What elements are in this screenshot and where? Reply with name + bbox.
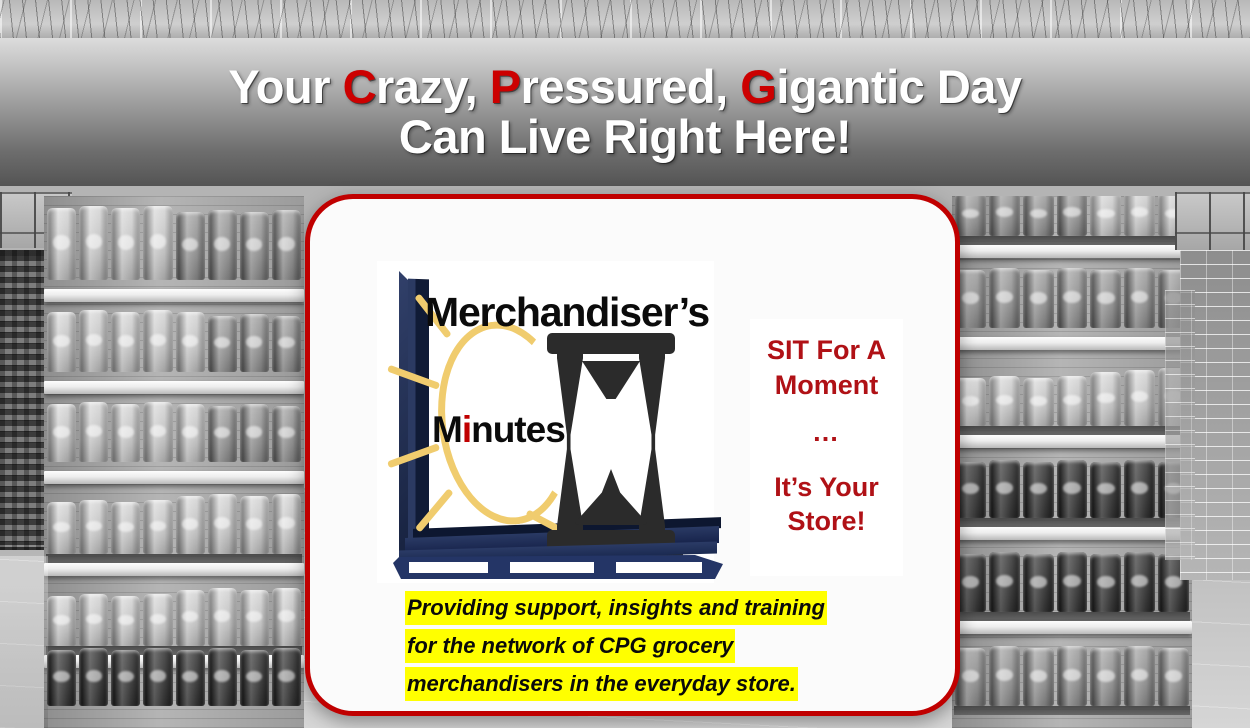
shelf-row xyxy=(952,196,1192,258)
product-group xyxy=(952,646,1192,706)
headline-text-igantic-day: igantic Day xyxy=(776,60,1021,113)
shelf-price-strip xyxy=(954,426,1190,435)
product-group xyxy=(952,460,1192,518)
slogan-line-1: SIT For A xyxy=(767,333,886,368)
headline-text-razy: razy, xyxy=(376,60,490,113)
card-inner: Merchandiser’s Minutes SIT For A Moment … xyxy=(310,199,955,711)
headline-banner: Your Crazy, Pressured, Gigantic Day Can … xyxy=(0,38,1250,186)
shelf-row xyxy=(44,484,304,576)
pallet-slot xyxy=(510,562,594,573)
left-shelving-unit xyxy=(44,196,304,728)
slogan-line-3: It’s Your xyxy=(774,470,879,505)
shelf-row xyxy=(44,668,304,728)
logo-wordmark-merchandisers: Merchandiser’s xyxy=(425,289,709,336)
product-group xyxy=(952,552,1192,612)
shelf-price-strip xyxy=(954,518,1190,527)
shelf-board xyxy=(952,245,1192,258)
hourglass-upper-sand xyxy=(582,361,640,399)
shelf-row xyxy=(44,394,304,484)
headline-text-ressured: ressured, xyxy=(521,60,741,113)
shelf-board xyxy=(952,527,1192,540)
wire-rack-display-2 xyxy=(1165,290,1195,560)
shelf-board xyxy=(44,381,304,394)
product-group xyxy=(952,196,1192,236)
pallet-slot xyxy=(409,562,488,573)
headline-accent-p: P xyxy=(490,60,521,113)
aisle-endcap-face xyxy=(0,556,48,728)
headline-line-2: Can Live Right Here! xyxy=(399,112,851,162)
product-group xyxy=(952,268,1192,328)
shelf-board xyxy=(952,337,1192,350)
product-group xyxy=(44,402,304,462)
headline-accent-g: G xyxy=(740,60,776,113)
content-card: Merchandiser’s Minutes SIT For A Moment … xyxy=(305,194,960,716)
slogan-ellipsis: … xyxy=(812,418,841,448)
product-group xyxy=(44,206,304,280)
logo-minutes-rest: nutes xyxy=(471,409,565,450)
tagline-line-3: merchandisers in the everyday store. xyxy=(405,667,798,701)
slide-canvas: Your Crazy, Pressured, Gigantic Day Can … xyxy=(0,0,1250,728)
slogan-line-2: Moment xyxy=(775,368,879,403)
logo-minutes-m: M xyxy=(432,409,462,450)
shelf-board xyxy=(44,563,304,576)
shelf-board xyxy=(952,435,1192,448)
shelf-row xyxy=(44,302,304,394)
logo-minutes-accent-i: i xyxy=(462,409,471,450)
hourglass-lower-sand xyxy=(573,469,649,525)
headline-line-1: Your Crazy, Pressured, Gigantic Day xyxy=(228,62,1021,112)
shelf-price-strip xyxy=(954,236,1190,245)
ceiling-strip xyxy=(0,0,1250,40)
logo-wordmark-minutes: Minutes xyxy=(432,409,565,451)
shelf-board xyxy=(952,621,1192,634)
slogan-panel: SIT For A Moment … It’s Your Store! xyxy=(750,319,903,576)
shelf-row xyxy=(44,196,304,302)
shelf-row xyxy=(952,258,1192,350)
pallet-slot xyxy=(616,562,702,573)
product-group xyxy=(44,310,304,372)
shelf-board xyxy=(44,471,304,484)
pallet-graphic xyxy=(393,546,723,579)
product-group xyxy=(952,368,1192,426)
headline-text-your: Your xyxy=(228,60,342,113)
right-overstock-boxes xyxy=(1175,192,1250,250)
shelf-row xyxy=(952,448,1192,540)
shelf-row xyxy=(952,350,1192,448)
product-group xyxy=(44,648,304,706)
shelf-price-strip xyxy=(954,706,1190,715)
product-group xyxy=(44,494,304,554)
shelf-row xyxy=(952,634,1192,728)
headline-accent-c: C xyxy=(343,60,376,113)
shelf-board xyxy=(44,289,304,302)
shelf-row xyxy=(952,540,1192,634)
product-group xyxy=(44,588,304,646)
shelf-price-strip xyxy=(46,554,302,563)
tagline-line-2: for the network of CPG grocery xyxy=(405,629,735,663)
logo-panel: Merchandiser’s Minutes xyxy=(377,261,714,583)
tagline-line-1: Providing support, insights and training xyxy=(405,591,827,625)
tagline-block: Providing support, insights and training… xyxy=(405,591,900,705)
slogan-line-4: Store! xyxy=(787,504,865,539)
hourglass-glass xyxy=(557,351,665,533)
hourglass-right-wall xyxy=(639,351,665,533)
right-shelving-unit xyxy=(952,196,1192,728)
shelf-price-strip xyxy=(954,612,1190,621)
